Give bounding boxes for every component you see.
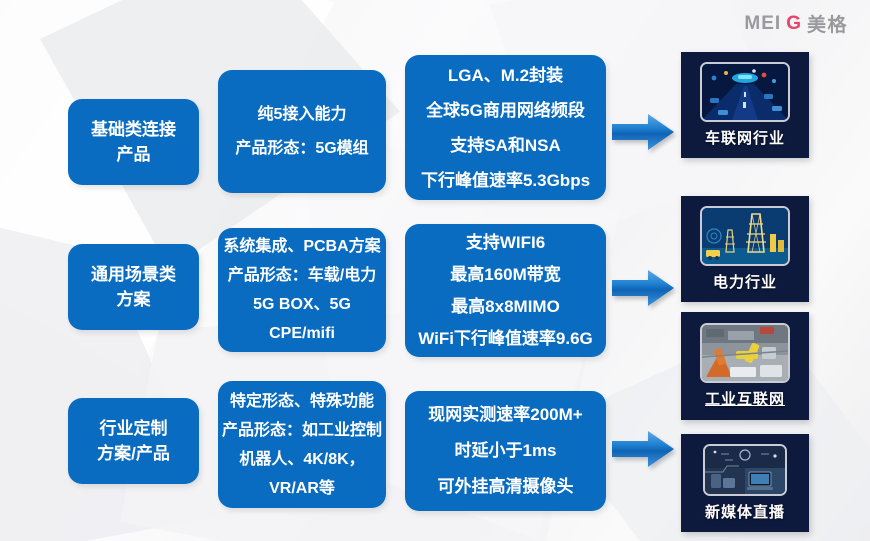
box-line: 5G BOX、5G	[253, 290, 351, 319]
box-line: 纯5接入能力	[258, 98, 347, 132]
box-line: 时延小于1ms	[454, 433, 556, 469]
box-line: 行业定制	[100, 416, 168, 441]
box-line: 产品形态：5G模组	[235, 132, 368, 166]
box-line: 支持WIFI6	[466, 227, 545, 259]
box-line: 基础类连接	[91, 117, 176, 142]
box-line: 系统集成、PCBA方案	[223, 232, 380, 261]
box-line: 产品	[117, 142, 151, 167]
box-line: 最高160M带宽	[450, 259, 561, 291]
category-box-industry-custom[interactable]: 行业定制 方案/产品	[68, 398, 199, 484]
capability-box-general-scenario[interactable]: 系统集成、PCBA方案 产品形态：车载/电力 5G BOX、5G CPE/mif…	[218, 228, 386, 352]
box-line: 方案/产品	[97, 441, 170, 466]
industry-card-label: 新媒体直播	[705, 501, 785, 522]
box-line: LGA、M.2封装	[448, 58, 563, 93]
brand-logo: MEIG 美格	[744, 10, 848, 37]
box-line: 产品形态：车载/电力	[228, 261, 376, 290]
industry-card-new-media-live[interactable]: 新媒体直播	[681, 434, 809, 532]
logo-mark-g: G	[786, 13, 802, 35]
spec-box-basic-connection[interactable]: LGA、M.2封装 全球5G商用网络频段 支持SA和NSA 下行峰值速率5.3G…	[405, 55, 606, 200]
box-line: 全球5G商用网络频段	[426, 93, 585, 128]
box-line: 机器人、4K/8K，	[239, 445, 364, 474]
box-line: 通用场景类	[91, 262, 176, 287]
industry-card-power[interactable]: 电力行业	[681, 196, 809, 302]
box-line: 最高8x8MIMO	[451, 291, 560, 323]
box-line: CPE/mifi	[269, 319, 335, 348]
industry-card-industrial-internet[interactable]: 工业互联网	[681, 312, 809, 420]
box-line: 可外挂高清摄像头	[438, 469, 574, 505]
arrow-right-icon	[612, 429, 674, 469]
capability-box-basic-connection[interactable]: 纯5接入能力 产品形态：5G模组	[218, 70, 386, 193]
box-line: 支持SA和NSA	[450, 128, 561, 163]
live-broadcast-studio-thumbnail	[703, 444, 787, 496]
industry-card-label: 工业互联网	[705, 388, 785, 409]
capability-box-industry-custom[interactable]: 特定形态、特殊功能 产品形态：如工业控制 机器人、4K/8K， VR/AR等	[218, 381, 386, 508]
logo-name-cn: 美格	[807, 10, 848, 37]
arrow-right-icon	[612, 112, 674, 152]
factory-robot-arm-thumbnail	[700, 323, 790, 383]
logo-mark-left: MEI	[744, 13, 781, 35]
spec-box-general-scenario[interactable]: 支持WIFI6 最高160M带宽 最高8x8MIMO WiFi下行峰值速率9.6…	[405, 224, 606, 357]
slide-canvas: MEIG 美格 基础类连接 产品 通用场景类 方案 行业定制 方案/产品 纯5接…	[0, 0, 870, 541]
spec-box-industry-custom[interactable]: 现网实测速率200M+ 时延小于1ms 可外挂高清摄像头	[405, 391, 606, 511]
power-grid-tower-thumbnail	[700, 206, 790, 266]
industry-card-label: 电力行业	[713, 271, 777, 292]
box-line: 特定形态、特殊功能	[230, 387, 374, 416]
connected-vehicle-road-thumbnail	[700, 62, 790, 122]
box-line: 产品形态：如工业控制	[222, 416, 382, 445]
box-line: 下行峰值速率5.3Gbps	[421, 163, 590, 198]
industry-card-label: 车联网行业	[705, 127, 785, 148]
box-line: VR/AR等	[269, 474, 335, 503]
category-box-general-scenario[interactable]: 通用场景类 方案	[68, 244, 199, 330]
arrow-right-icon	[612, 268, 674, 308]
box-line: 现网实测速率200M+	[428, 397, 582, 433]
box-line: 方案	[117, 287, 151, 312]
category-box-basic-connection[interactable]: 基础类连接 产品	[68, 99, 199, 185]
background-facet	[0, 180, 220, 541]
box-line: WiFi下行峰值速率9.6G	[418, 323, 593, 355]
industry-card-vehicle-network[interactable]: 车联网行业	[681, 52, 809, 158]
